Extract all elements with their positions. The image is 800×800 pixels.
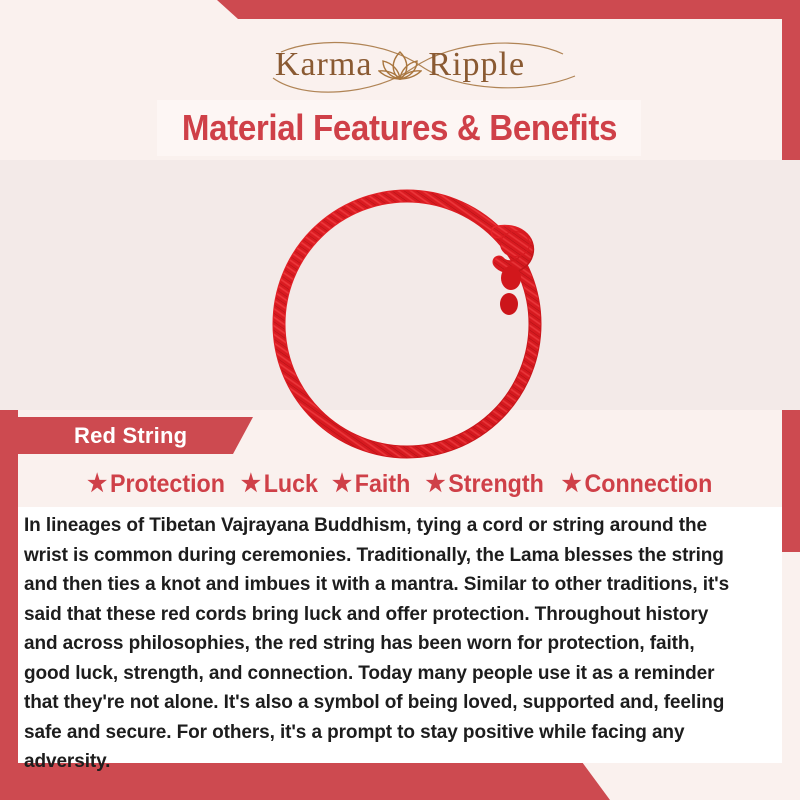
red-string-bracelet-image xyxy=(265,170,565,470)
lotus-flower-icon xyxy=(378,48,422,82)
description-block: In lineages of Tibetan Vajrayana Buddhis… xyxy=(18,507,782,763)
product-image-area xyxy=(0,160,800,410)
feature-label: Protection xyxy=(110,470,225,499)
title-band: Material Features & Benefits xyxy=(157,100,641,156)
top-right-accent-bar xyxy=(214,0,800,19)
material-name-banner: Red String xyxy=(18,417,253,454)
material-name-label: Red String xyxy=(74,423,187,449)
star-icon: ★ xyxy=(87,472,107,496)
feature-item-protection: ★ Protection xyxy=(87,470,225,499)
brand-logo: Karma Ripple xyxy=(0,34,800,96)
feature-label: Connection xyxy=(585,470,713,499)
brand-name-first: Karma xyxy=(275,48,373,82)
feature-label: Faith xyxy=(354,470,410,499)
feature-item-luck: ★ Luck xyxy=(241,470,318,499)
feature-item-faith: ★ Faith xyxy=(332,470,410,499)
product-feature-poster: Karma Ripple Material Features & Benefit… xyxy=(0,0,800,800)
star-icon: ★ xyxy=(562,472,582,496)
feature-label: Luck xyxy=(264,470,318,499)
feature-keyword-row: ★ Protection ★ Luck ★ Faith ★ Strength ★… xyxy=(18,464,782,504)
description-text: In lineages of Tibetan Vajrayana Buddhis… xyxy=(24,511,742,777)
star-icon: ★ xyxy=(332,472,352,496)
star-icon: ★ xyxy=(241,472,261,496)
star-icon: ★ xyxy=(425,472,445,496)
page-title: Material Features & Benefits xyxy=(181,107,616,149)
feature-item-connection: ★ Connection xyxy=(562,470,713,499)
feature-label: Strength xyxy=(448,470,544,499)
feature-item-strength: ★ Strength xyxy=(425,470,543,499)
brand-name-second: Ripple xyxy=(428,48,525,82)
